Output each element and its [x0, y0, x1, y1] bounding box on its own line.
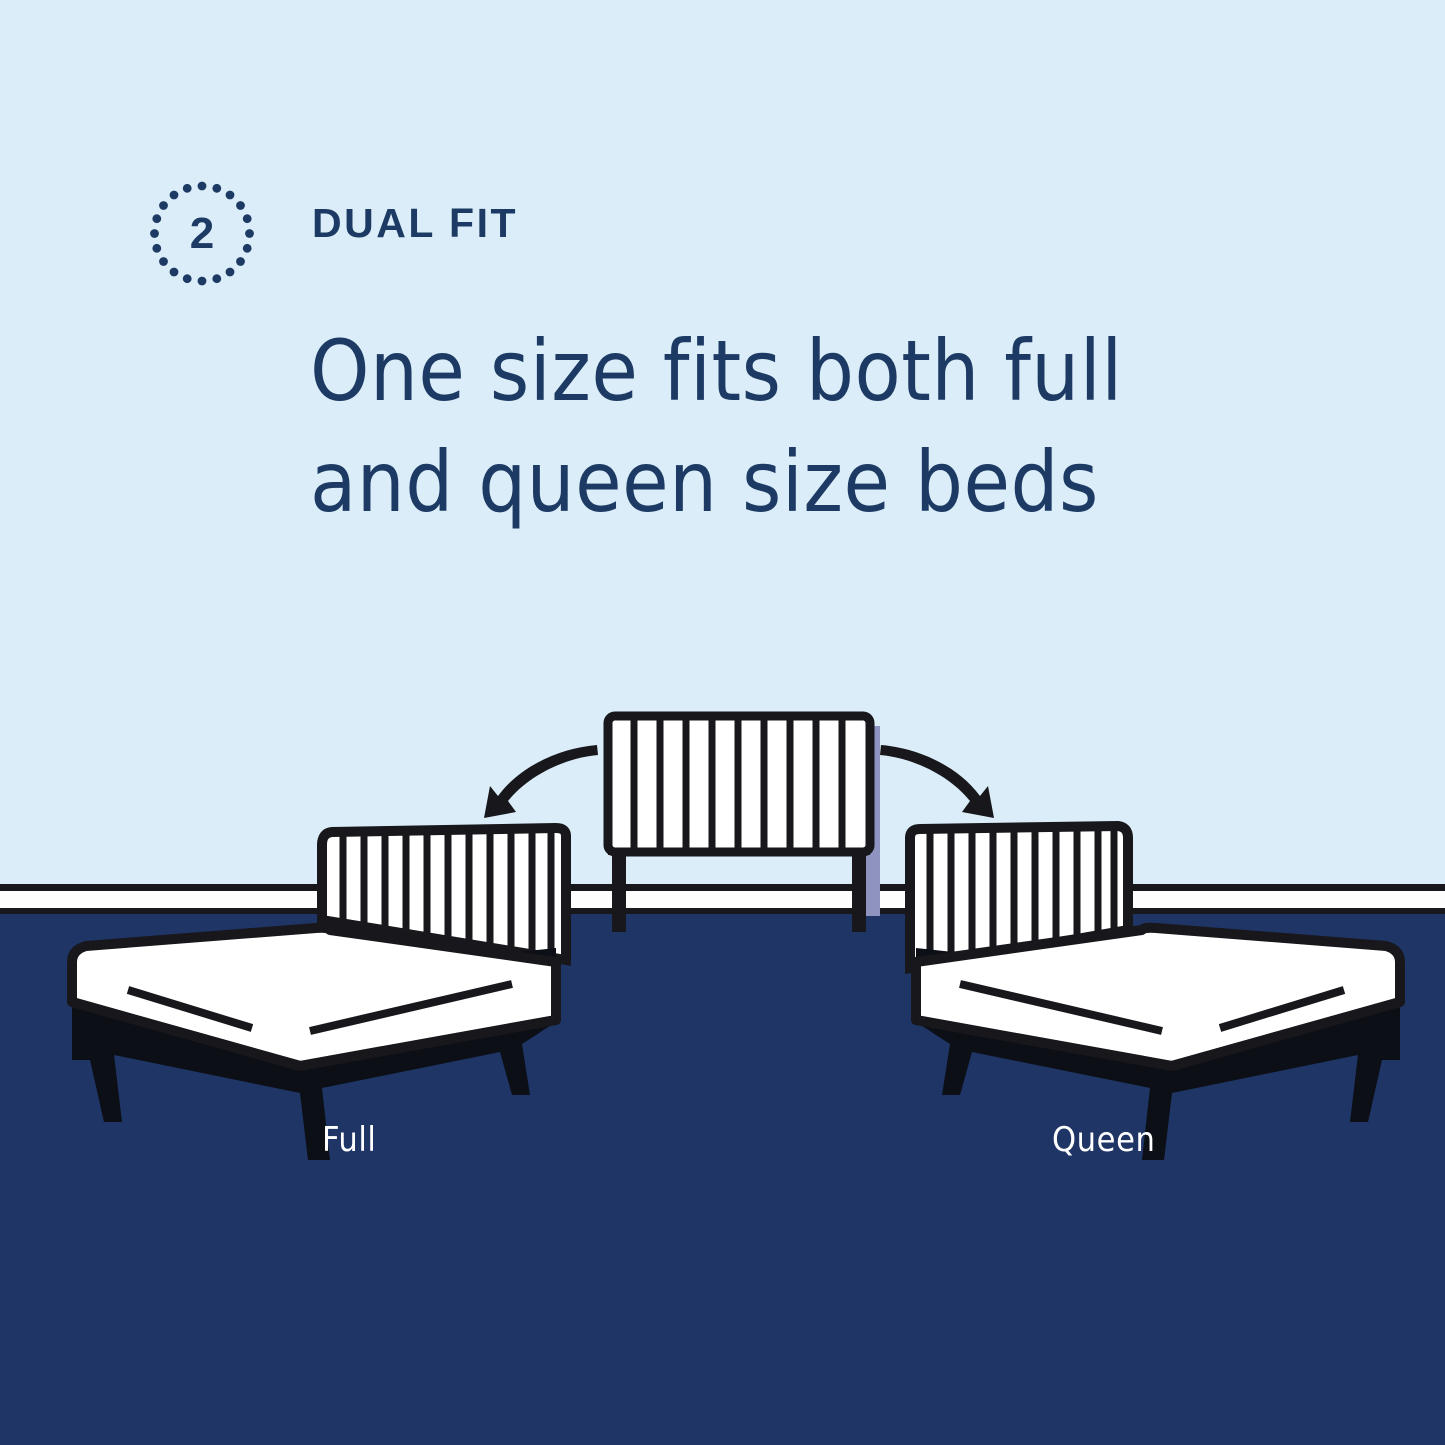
arrow-left	[484, 745, 598, 818]
arrow-left-shape	[484, 745, 598, 818]
infographic-canvas: 2 DUAL FIT One size fits both full and q…	[0, 0, 1445, 1445]
center-headboard-group	[608, 716, 880, 932]
bed-queen	[910, 826, 1400, 1160]
bed-label-queen: Queen	[1052, 1120, 1156, 1160]
illustration-svg	[0, 0, 1445, 1445]
arrow-right	[880, 745, 994, 818]
center-headboard-leg-right	[852, 846, 866, 932]
bed-full	[72, 828, 566, 1160]
bed-label-full: Full	[322, 1120, 377, 1160]
arrow-right-shape	[880, 745, 994, 818]
bed-illustration	[0, 0, 1445, 1445]
center-headboard-leg-left	[612, 846, 626, 932]
